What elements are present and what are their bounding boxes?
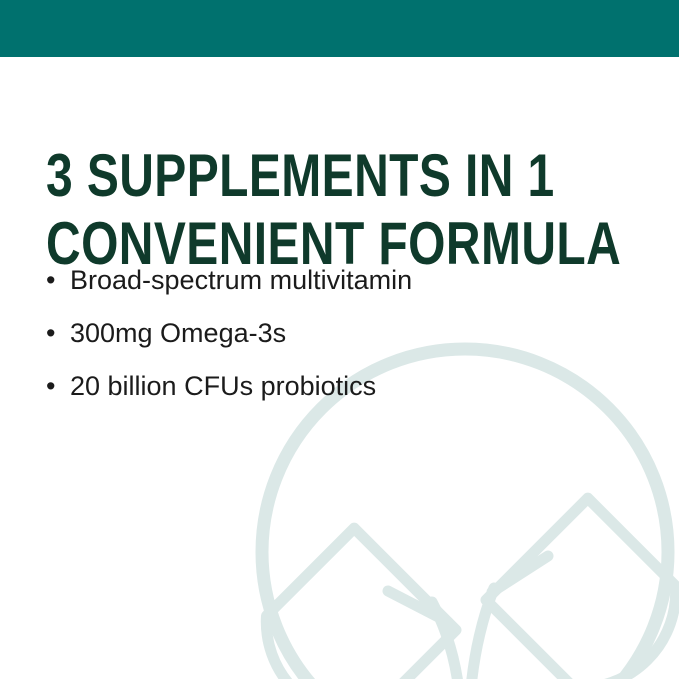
feature-label-omega3: 300mg Omega-3s xyxy=(70,307,286,360)
watermark-right-stem-icon xyxy=(470,588,494,679)
bullet-dot-icon: • xyxy=(46,360,70,413)
list-item: • 300mg Omega-3s xyxy=(46,307,646,360)
page-title-line-1: 3 SUPPLEMENTS IN 1 xyxy=(46,142,526,210)
watermark-left-leaf-icon xyxy=(244,528,456,679)
feature-list: • Broad-spectrum multivitamin • 300mg Om… xyxy=(46,254,646,413)
bullet-dot-icon: • xyxy=(46,307,70,360)
watermark-right-leaf-vein-icon xyxy=(492,556,548,592)
list-item: • Broad-spectrum multivitamin xyxy=(46,254,646,307)
supplement-feature-card: 3 SUPPLEMENTS IN 1 CONVENIENT FORMULA • … xyxy=(0,0,679,679)
watermark-left-stem-icon xyxy=(432,602,460,679)
feature-label-multivitamin: Broad-spectrum multivitamin xyxy=(70,254,412,307)
top-accent-band xyxy=(0,0,679,57)
watermark-right-leaf-icon xyxy=(486,498,679,679)
watermark-left-leaf-vein-icon xyxy=(388,591,448,622)
feature-label-probiotics: 20 billion CFUs probiotics xyxy=(70,360,376,413)
bullet-dot-icon: • xyxy=(46,254,70,307)
list-item: • 20 billion CFUs probiotics xyxy=(46,360,646,413)
